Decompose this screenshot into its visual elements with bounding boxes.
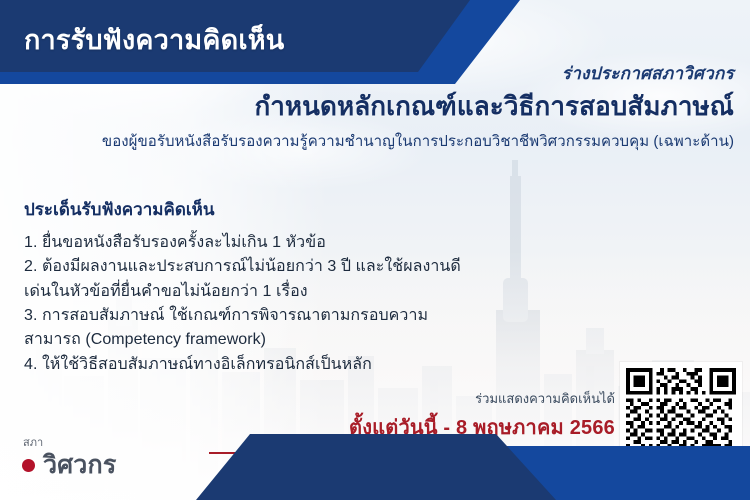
heading-eyebrow: ร่างประกาศสภาวิศวกร	[14, 60, 734, 87]
banner-title: การรับฟังความคิดเห็น	[24, 18, 284, 61]
logo-main-text: วิศวกร	[43, 451, 117, 479]
list-item: เด่นในหัวข้อที่ยื่นคำขอไม่น้อยกว่า 1 เรื…	[24, 280, 494, 304]
section-title: ประเด็นรับฟังความคิดเห็น	[24, 196, 494, 223]
cta-invite-text: ร่วมแสดงความคิดเห็นได้	[195, 388, 615, 409]
content-block: ประเด็นรับฟังความคิดเห็น 1. ยื่นขอหนังสื…	[24, 196, 494, 377]
heading-subtitle: ของผู้ขอรับหนังสือรับรองความรู้ความชำนาญ…	[14, 129, 734, 153]
heading-block: ร่างประกาศสภาวิศวกร กำหนดหลักเกณฑ์และวิธ…	[14, 60, 734, 153]
logo-small-text: สภา	[23, 433, 117, 451]
list-item: 3. การสอบสัมภาษณ์ ใช้เกณฑ์การพิจารณาตามก…	[24, 304, 494, 328]
organization-logo: สภา วิศวกร	[22, 433, 117, 478]
list-item: 1. ยื่นขอหนังสือรับรองครั้งละไม่เกิน 1 ห…	[24, 231, 494, 255]
poster-canvas: การรับฟังความคิดเห็น ร่างประกาศสภาวิศวกร…	[0, 0, 750, 500]
list-item: 2. ต้องมีผลงานและประสบการณ์ไม่น้อยกว่า 3…	[24, 255, 494, 279]
footer-band-dark	[196, 434, 556, 500]
list-item: สามารถ (Competency framework)	[24, 328, 494, 352]
list-item: 4. ให้ใช้วิธีสอบสัมภาษณ์ทางอิเล็กทรอนิกส…	[24, 353, 494, 377]
logo-dot-icon	[22, 459, 35, 472]
page-title: กำหนดหลักเกณฑ์และวิธีการสอบสัมภาษณ์	[14, 91, 734, 122]
